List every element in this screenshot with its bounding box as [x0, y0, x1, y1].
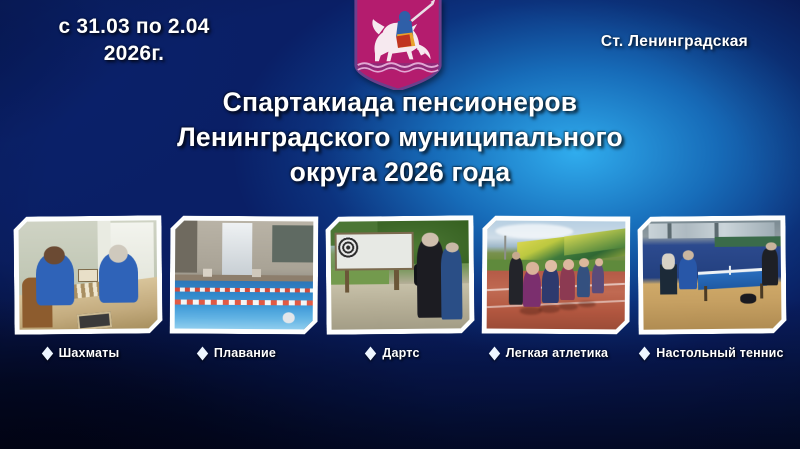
sport-label-darts: Дартс — [382, 346, 419, 360]
sport-caption-chess: Шахматы — [3, 346, 159, 360]
sport-label-chess: Шахматы — [59, 346, 120, 360]
darts-photo — [330, 220, 469, 329]
athletics-photo-card — [482, 215, 631, 334]
sport-caption-row: Шахматы Плавание Дартс Легкая атлетика Н… — [0, 341, 800, 365]
poster-canvas: с 31.03 по 2.04 2026г. Ст. Ленинградская… — [0, 0, 800, 449]
sport-label-athletics: Легкая атлетика — [506, 346, 608, 360]
sport-caption-swimming: Плавание — [159, 346, 315, 360]
event-dates-line-2: 2026г. — [104, 42, 164, 65]
table-tennis-photo-card — [637, 215, 786, 335]
event-dates-line-1: с 31.03 по 2.04 — [58, 15, 209, 38]
darts-photo-card — [325, 215, 474, 335]
diamond-bullet-icon — [197, 346, 208, 360]
coat-of-arms-icon — [350, 0, 446, 90]
diamond-bullet-icon — [639, 346, 650, 360]
table-tennis-photo — [642, 220, 781, 329]
sport-caption-table-tennis: Настольный теннис — [627, 346, 797, 360]
page-title: Спартакиада пенсионеров Ленинградского м… — [0, 85, 800, 191]
diamond-bullet-icon — [489, 346, 500, 360]
swimming-photo-card — [170, 215, 319, 334]
diamond-bullet-icon — [365, 346, 376, 360]
sport-label-table-tennis: Настольный теннис — [656, 346, 783, 360]
sport-caption-darts: Дартс — [315, 346, 471, 360]
page-title-line-1: Спартакиада пенсионеров — [0, 85, 800, 120]
athletics-photo — [487, 221, 626, 330]
event-dates: с 31.03 по 2.04 2026г. — [14, 14, 254, 68]
swimming-photo — [175, 221, 314, 330]
chess-photo-card — [13, 215, 162, 335]
event-location: Ст. Ленинградская — [601, 33, 748, 51]
chess-photo — [18, 220, 157, 329]
page-title-line-2: Ленинградского муниципального — [0, 120, 800, 155]
photo-strip — [0, 216, 800, 336]
sport-label-swimming: Плавание — [214, 346, 276, 360]
sport-caption-athletics: Легкая атлетика — [471, 346, 627, 360]
page-title-line-3: округа 2026 года — [0, 155, 800, 190]
diamond-bullet-icon — [41, 346, 52, 360]
